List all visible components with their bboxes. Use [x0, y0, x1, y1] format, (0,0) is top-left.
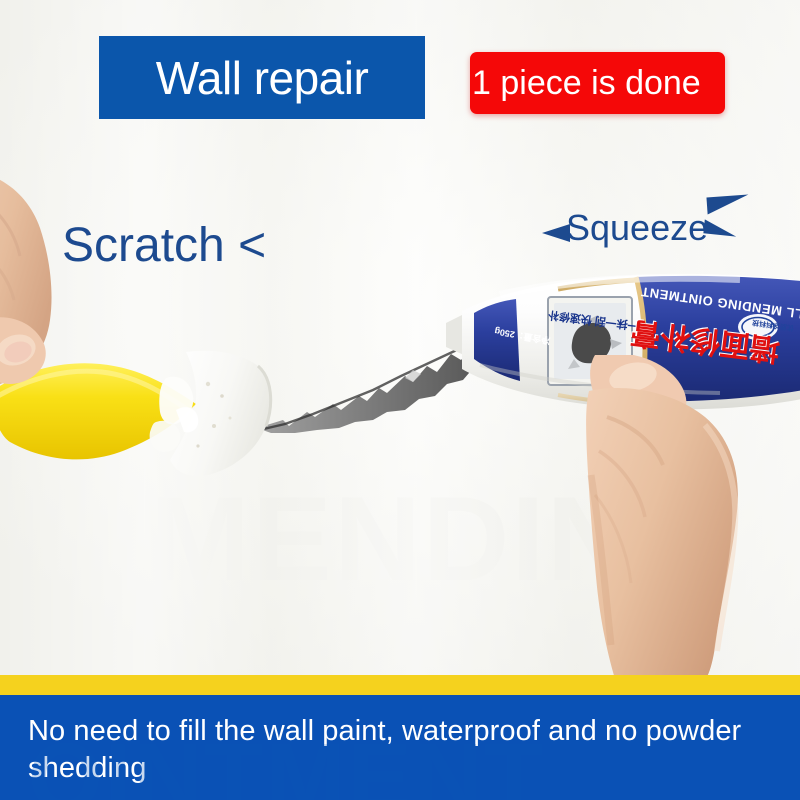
headline-badge-one-piece-text: 1 piece is done — [470, 66, 701, 100]
annotation-scratch-label: Scratch < — [62, 222, 266, 270]
annotation-squeeze-label: Squeeze — [566, 210, 708, 246]
right-hand-squeezing-tube — [565, 355, 800, 685]
left-hand-holding-scraper — [0, 168, 120, 418]
product-advertisement-poster: WALL MENDING — [0, 0, 800, 800]
banner-blue-area: OINTMENT No need to fill the wall paint,… — [0, 695, 800, 800]
arrow-lower-icon — [703, 219, 737, 236]
arrow-upper-icon — [706, 195, 749, 215]
banner-yellow-stripe — [0, 675, 800, 695]
banner-watermark: OINTMENT — [28, 723, 545, 800]
bottom-banner: OINTMENT No need to fill the wall paint,… — [0, 675, 800, 800]
headline-badge-one-piece: 1 piece is done — [470, 52, 725, 114]
headline-badge-wall-repair: Wall repair — [99, 36, 425, 119]
headline-badge-wall-repair-text: Wall repair — [156, 55, 369, 101]
